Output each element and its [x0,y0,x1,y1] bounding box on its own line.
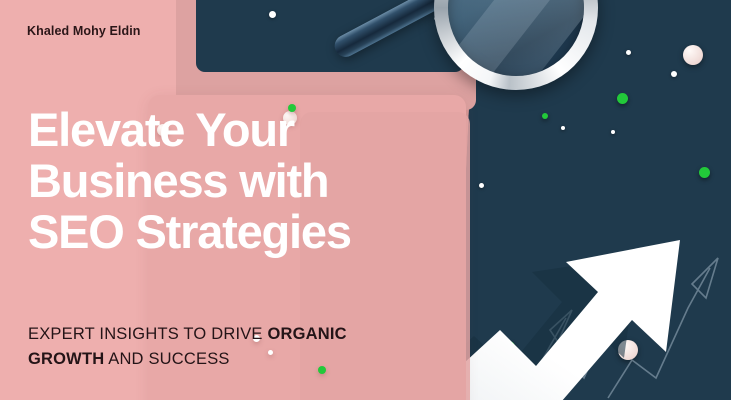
decor-sphere-pink [683,45,703,65]
page-title: Elevate Your Business with SEO Strategie… [28,104,448,257]
decor-dot-white [671,71,677,77]
subtitle-text: EXPERT INSIGHTS TO DRIVE [28,325,267,343]
headline-line: SEO Strategies [28,206,448,257]
headline-line: Business with [28,155,448,206]
seo-poster: Khaled Mohy Eldin Elevate Your Business … [0,0,731,400]
headline-line: Elevate Your [28,104,448,155]
subtitle: EXPERT INSIGHTS TO DRIVE ORGANIC GROWTH … [28,322,408,372]
subtitle-text: AND SUCCESS [104,350,229,368]
decor-dot-white [626,50,631,55]
author-name: Khaled Mohy Eldin [27,24,141,38]
magnifier-lens [448,0,584,76]
magnifier-ring [434,0,598,90]
decor-dot-white [269,11,276,18]
